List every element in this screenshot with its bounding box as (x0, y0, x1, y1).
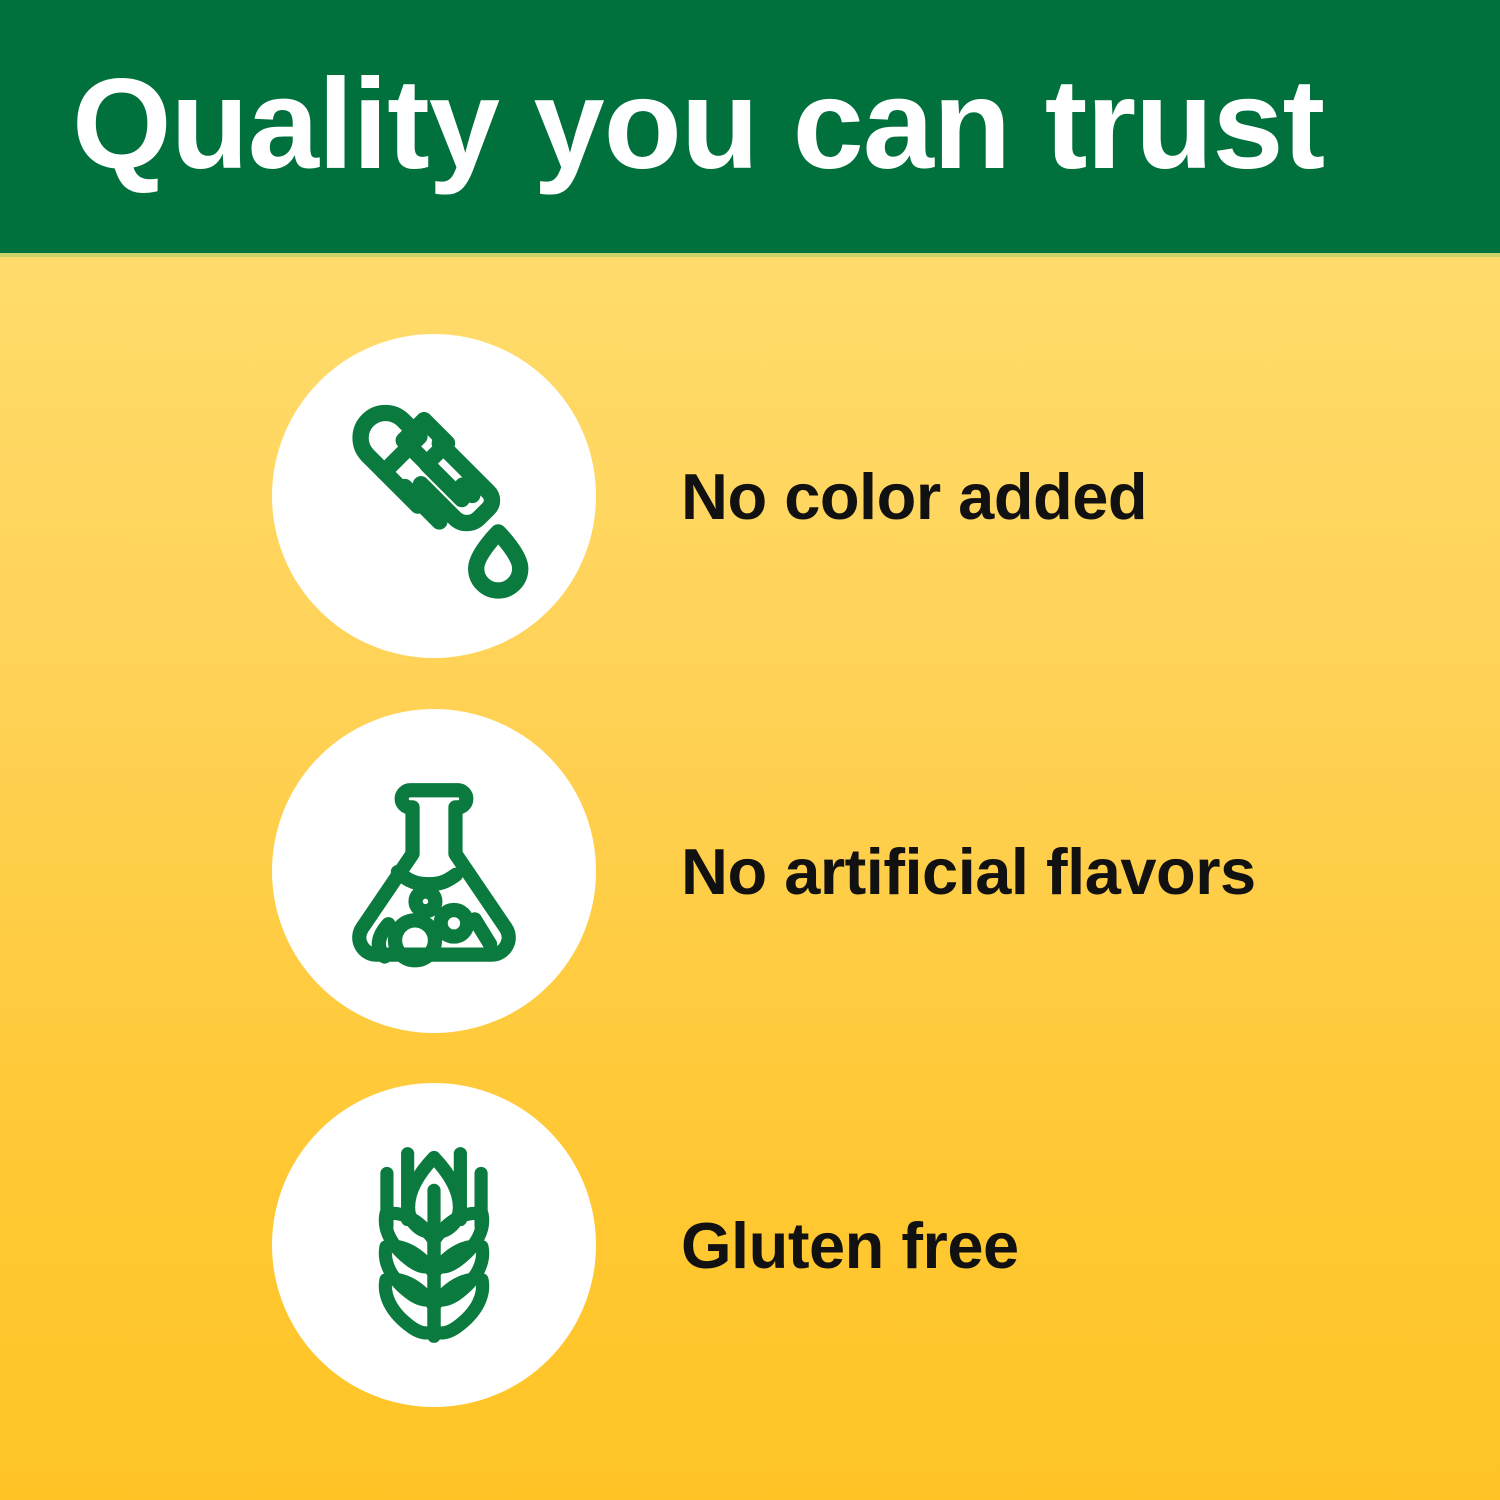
header-bar: Quality you can trust (0, 0, 1500, 253)
page-title: Quality you can trust (72, 55, 1472, 195)
wheat-icon (321, 1132, 547, 1358)
icon-circle (272, 709, 596, 1033)
feature-label: Gluten free (681, 1083, 1019, 1407)
feature-row: Gluten free (0, 1083, 1500, 1407)
header-divider (0, 253, 1500, 257)
feature-label: No color added (681, 334, 1147, 658)
feature-label: No artificial flavors (681, 709, 1256, 1033)
feature-row: No artificial flavors (0, 709, 1500, 1033)
quality-badge-panel: Quality you can trust (0, 0, 1500, 1500)
icon-circle (272, 1083, 596, 1407)
flask-icon (320, 757, 548, 985)
dropper-icon (319, 381, 549, 611)
feature-row: No color added (0, 334, 1500, 658)
icon-circle (272, 334, 596, 658)
